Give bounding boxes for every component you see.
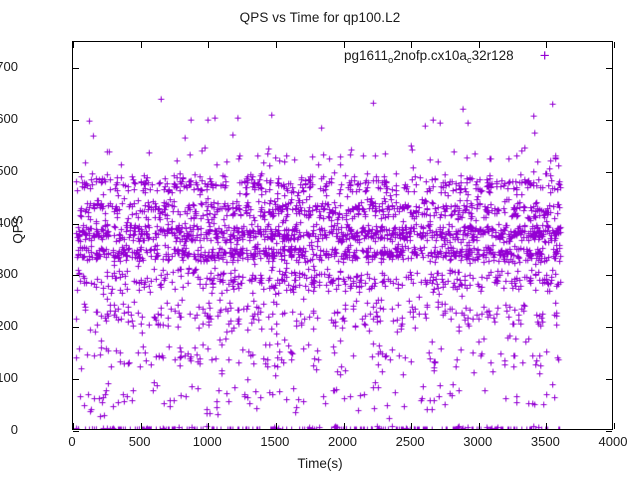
y-tick [606,172,612,173]
chart-figure: QPS vs Time for qp100.L2 QPS Time(s) 010… [0,0,640,480]
y-tick [606,431,612,432]
y-tick-label: 700 [0,60,18,73]
legend-series-label: pg1611o2nofp.cx10ac32r128 [344,48,514,63]
y-tick-label: 400 [0,216,18,229]
y-tick [606,275,612,276]
y-tick [73,275,79,276]
x-tick-label: 2000 [313,435,373,448]
x-tick [411,423,412,429]
x-tick-label: 4000 [583,435,640,448]
x-tick-label: 2500 [380,435,440,448]
x-tick [344,423,345,429]
y-tick [606,379,612,380]
y-tick [73,327,79,328]
y-tick-label: 300 [0,267,18,280]
x-tick [546,423,547,429]
x-tick [208,42,209,48]
chart-title: QPS vs Time for qp100.L2 [0,10,640,25]
y-tick-label: 500 [0,164,18,177]
x-tick-label: 0 [42,435,102,448]
y-tick-label: 600 [0,112,18,125]
x-tick [276,423,277,429]
y-tick-label: 200 [0,319,18,332]
x-tick [479,423,480,429]
x-tick [73,42,74,48]
y-tick [73,68,79,69]
x-tick [73,423,74,429]
x-tick [276,42,277,48]
y-tick [606,224,612,225]
scatter-canvas [73,42,612,429]
x-tick [141,423,142,429]
y-tick [73,120,79,121]
x-tick [141,42,142,48]
y-tick [73,431,79,432]
plot-area [72,41,613,430]
y-tick [73,379,79,380]
x-tick-label: 3500 [515,435,575,448]
x-tick [614,42,615,48]
y-tick [606,68,612,69]
x-tick-label: 500 [110,435,170,448]
x-tick [614,423,615,429]
y-tick-label: 100 [0,371,18,384]
y-tick [73,172,79,173]
y-tick-label: 0 [0,423,18,436]
x-tick-label: 1000 [177,435,237,448]
y-tick [606,120,612,121]
legend-marker-plus-icon: + [540,47,550,64]
x-tick-label: 3000 [448,435,508,448]
x-tick [208,423,209,429]
legend: pg1611o2nofp.cx10ac32r128 + [344,45,550,65]
y-tick [73,224,79,225]
y-tick [606,327,612,328]
x-axis-title: Time(s) [0,456,640,471]
x-tick-label: 1500 [245,435,305,448]
